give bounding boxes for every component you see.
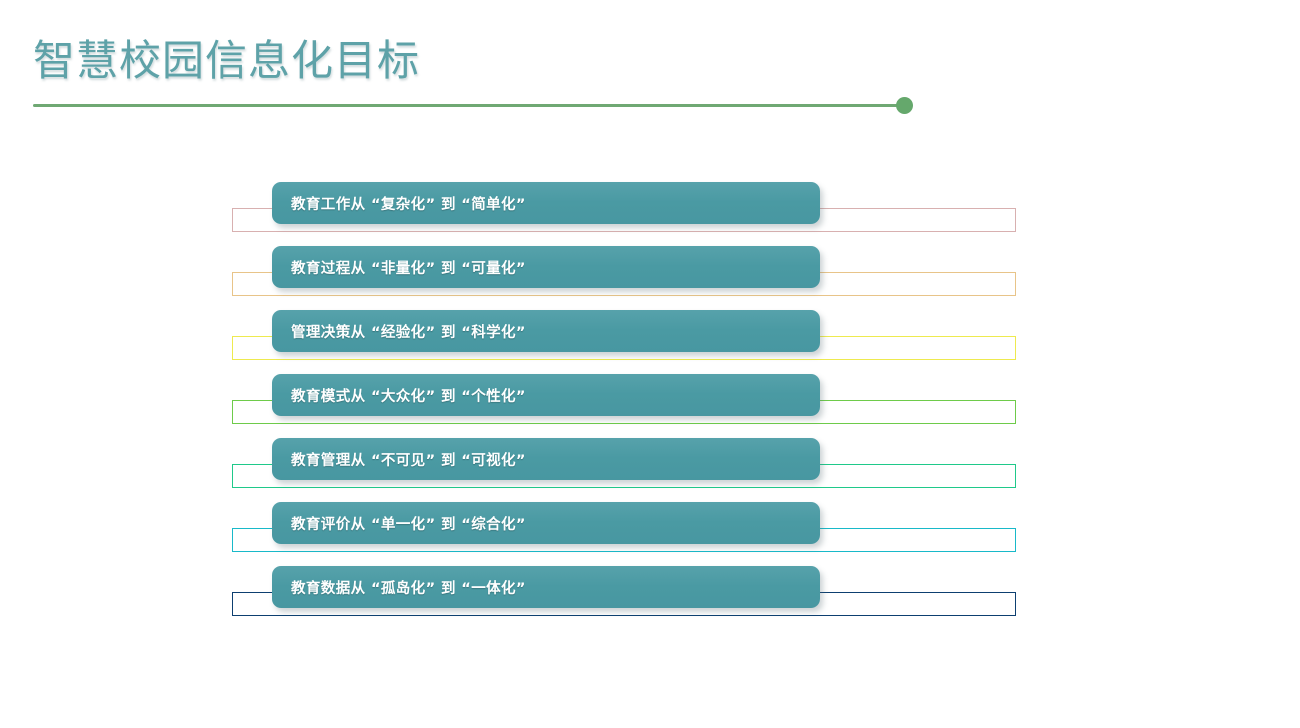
slide-canvas: 智慧校园信息化目标 教育工作从 “复杂化” 到 “简单化”教育过程从 “非量化”…	[0, 0, 1300, 728]
goal-row: 管理决策从 “经验化” 到 “科学化”	[0, 310, 1300, 374]
goal-pill-4[interactable]: 教育模式从 “大众化” 到 “个性化”	[272, 374, 820, 416]
goal-row: 教育模式从 “大众化” 到 “个性化”	[0, 374, 1300, 438]
goal-pill-6[interactable]: 教育评价从 “单一化” 到 “综合化”	[272, 502, 820, 544]
goal-pill-2[interactable]: 教育过程从 “非量化” 到 “可量化”	[272, 246, 820, 288]
goal-row: 教育评价从 “单一化” 到 “综合化”	[0, 502, 1300, 566]
goal-pill-7[interactable]: 教育数据从 “孤岛化” 到 “一体化”	[272, 566, 820, 608]
goal-label: 管理决策从 “经验化” 到 “科学化”	[291, 321, 526, 342]
goal-row: 教育管理从 “不可见” 到 “可视化”	[0, 438, 1300, 502]
goal-pill-3[interactable]: 管理决策从 “经验化” 到 “科学化”	[272, 310, 820, 352]
goal-label: 教育工作从 “复杂化” 到 “简单化”	[291, 193, 526, 214]
goal-list: 教育工作从 “复杂化” 到 “简单化”教育过程从 “非量化” 到 “可量化”管理…	[0, 0, 1300, 728]
goal-pill-1[interactable]: 教育工作从 “复杂化” 到 “简单化”	[272, 182, 820, 224]
goal-label: 教育数据从 “孤岛化” 到 “一体化”	[291, 577, 526, 598]
goal-row: 教育工作从 “复杂化” 到 “简单化”	[0, 182, 1300, 246]
goal-pill-5[interactable]: 教育管理从 “不可见” 到 “可视化”	[272, 438, 820, 480]
goal-label: 教育评价从 “单一化” 到 “综合化”	[291, 513, 526, 534]
goal-label: 教育过程从 “非量化” 到 “可量化”	[291, 257, 526, 278]
goal-row: 教育数据从 “孤岛化” 到 “一体化”	[0, 566, 1300, 630]
goal-row: 教育过程从 “非量化” 到 “可量化”	[0, 246, 1300, 310]
goal-label: 教育模式从 “大众化” 到 “个性化”	[291, 385, 526, 406]
goal-label: 教育管理从 “不可见” 到 “可视化”	[291, 449, 526, 470]
